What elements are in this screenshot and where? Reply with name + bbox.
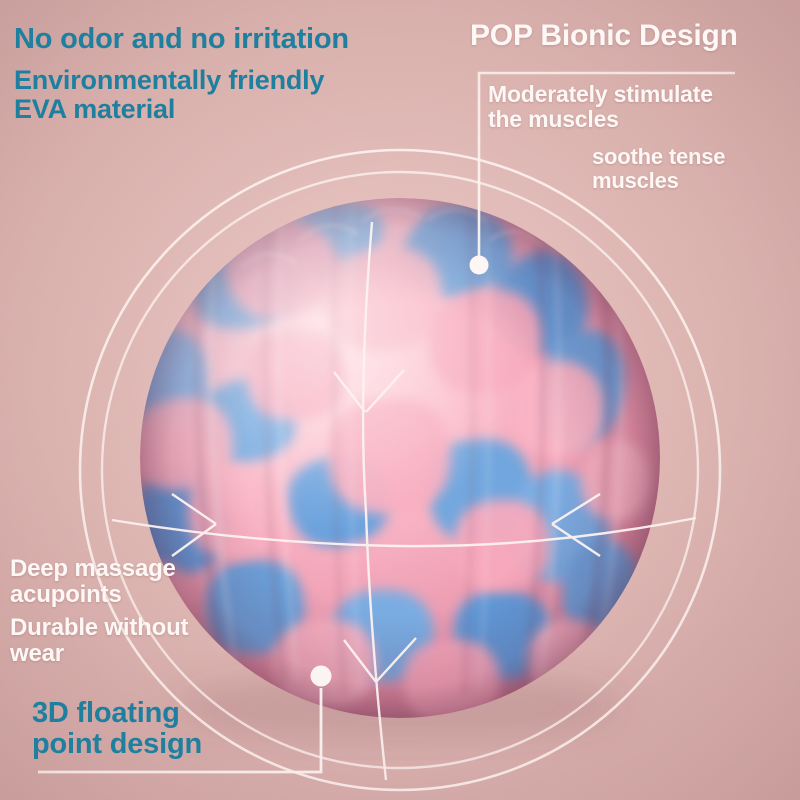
floating-point-marker-dot [311, 666, 332, 687]
product-image-canvas: No odor and no irritation Environmentall… [0, 0, 800, 800]
callout-deep-massage-text: Deep massage acupoints [10, 556, 176, 609]
callout-no-odor-text: No odor and no irritation [14, 24, 349, 55]
callout-durable-without-wear-text: Durable without wear [10, 615, 188, 668]
callout-soothe-tense-text: soothe tense muscles [592, 145, 725, 193]
callout-moderately-stimulate-text: Moderately stimulate the muscles [488, 82, 713, 132]
callout-eva-material-text: Environmentally friendly EVA material [14, 66, 324, 124]
callout-3d-floating-point-heading: 3D floating point design [32, 698, 202, 759]
callout-pop-bionic-heading: POP Bionic Design [470, 20, 738, 52]
massage-ball [110, 198, 660, 724]
bionic-design-marker-dot [470, 256, 489, 275]
